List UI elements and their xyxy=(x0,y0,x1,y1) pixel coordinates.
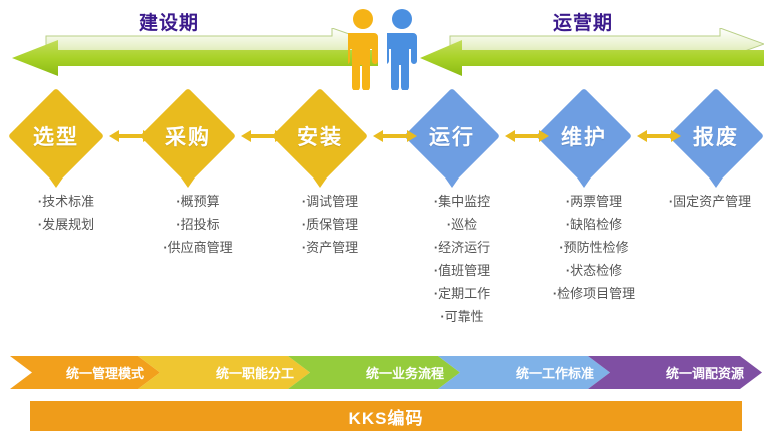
list-item: 调试管理 xyxy=(264,190,396,213)
list-item: 两票管理 xyxy=(528,190,660,213)
operation-phase-arrow xyxy=(420,28,764,80)
caret-down-icon xyxy=(313,178,327,188)
list-item: 资产管理 xyxy=(264,236,396,259)
stage-label: 运行 xyxy=(404,88,500,184)
list-item: 供应商管理 xyxy=(132,236,264,259)
connector-double-arrow-icon xyxy=(373,128,417,144)
stage-diamond-procurement[interactable]: 采购 xyxy=(140,88,236,184)
chevron-segment[interactable] xyxy=(138,356,310,389)
list-item: 概预算 xyxy=(132,190,264,213)
list-item: 集中监控 xyxy=(396,190,528,213)
list-item: 定期工作 xyxy=(396,282,528,305)
stage-items-disposal: 固定资产管理 xyxy=(648,190,772,213)
caret-down-icon xyxy=(181,178,195,188)
chevron-segment[interactable] xyxy=(288,356,460,389)
chevron-segment[interactable] xyxy=(438,356,610,389)
stage-diamond-operation[interactable]: 运行 xyxy=(404,88,500,184)
list-item: 发展规划 xyxy=(0,213,132,236)
stage-label: 安装 xyxy=(272,88,368,184)
chevron-segment[interactable] xyxy=(10,356,160,389)
list-item: 预防性检修 xyxy=(528,236,660,259)
stage-label: 维护 xyxy=(536,88,632,184)
person-blue-icon xyxy=(387,8,417,90)
stage-label: 选型 xyxy=(8,88,104,184)
list-item: 巡检 xyxy=(396,213,528,236)
list-item: 可靠性 xyxy=(396,305,528,328)
stage-diamond-maintenance[interactable]: 维护 xyxy=(536,88,632,184)
construction-phase-arrow xyxy=(12,28,378,80)
stage-label: 采购 xyxy=(140,88,236,184)
list-item: 招投标 xyxy=(132,213,264,236)
list-item: 经济运行 xyxy=(396,236,528,259)
list-item: 检修项目管理 xyxy=(528,282,660,305)
list-item: 缺陷检修 xyxy=(528,213,660,236)
lifecycle-diagram: 建设期 运营期 xyxy=(0,0,772,443)
connector-double-arrow-icon xyxy=(109,128,153,144)
list-item: 状态检修 xyxy=(528,259,660,282)
connector-double-arrow-icon xyxy=(637,128,681,144)
list-item: 固定资产管理 xyxy=(648,190,772,213)
stage-diamond-selection[interactable]: 选型 xyxy=(8,88,104,184)
caret-down-icon xyxy=(577,178,591,188)
unified-principles-bar xyxy=(10,356,762,389)
connector-double-arrow-icon xyxy=(241,128,285,144)
stage-items-selection: 技术标准 发展规划 xyxy=(0,190,132,236)
caret-down-icon xyxy=(49,178,63,188)
list-item: 质保管理 xyxy=(264,213,396,236)
list-item: 技术标准 xyxy=(0,190,132,213)
kks-coding-bar[interactable]: KKS编码 xyxy=(30,401,742,431)
stage-items-maintenance: 两票管理 缺陷检修 预防性检修 状态检修 检修项目管理 xyxy=(528,190,660,305)
caret-down-icon xyxy=(445,178,459,188)
stage-items-installation: 调试管理 质保管理 资产管理 xyxy=(264,190,396,259)
list-item: 值班管理 xyxy=(396,259,528,282)
caret-down-icon xyxy=(709,178,723,188)
stage-diamond-disposal[interactable]: 报废 xyxy=(668,88,764,184)
stage-items-operation: 集中监控 巡检 经济运行 值班管理 定期工作 可靠性 xyxy=(396,190,528,328)
person-yellow-icon xyxy=(348,8,378,90)
stage-label: 报废 xyxy=(668,88,764,184)
stage-diamond-installation[interactable]: 安装 xyxy=(272,88,368,184)
chevron-segment[interactable] xyxy=(588,356,762,389)
stage-items-procurement: 概预算 招投标 供应商管理 xyxy=(132,190,264,259)
kks-coding-label: KKS编码 xyxy=(349,404,424,429)
connector-double-arrow-icon xyxy=(505,128,549,144)
